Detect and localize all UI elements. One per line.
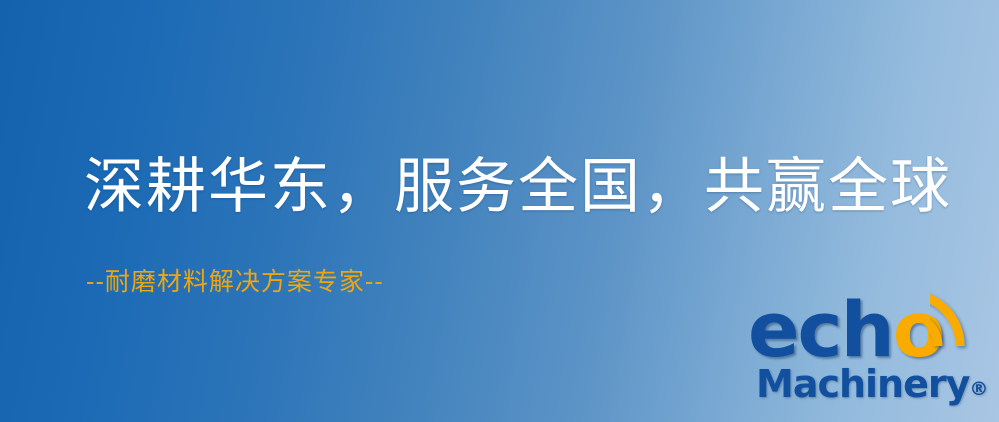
- registered-trademark-icon: ®: [969, 378, 988, 400]
- banner-headline: 深耕华东，服务全国，共赢全球: [84, 152, 952, 222]
- logo-tagline: Machinery®: [756, 362, 988, 411]
- banner-subtitle: --耐磨材料解决方案专家--: [86, 266, 384, 298]
- logo-word-ech: ech: [748, 285, 893, 374]
- echo-machinery-logo: echo Machinery®: [744, 292, 996, 418]
- logo-tagline-text: Machinery: [756, 362, 969, 406]
- logo-wordmark: echo: [748, 292, 943, 368]
- promo-banner: 深耕华东，服务全国，共赢全球 --耐磨材料解决方案专家-- echo Machi…: [0, 0, 999, 422]
- signal-arcs-icon: [930, 290, 996, 352]
